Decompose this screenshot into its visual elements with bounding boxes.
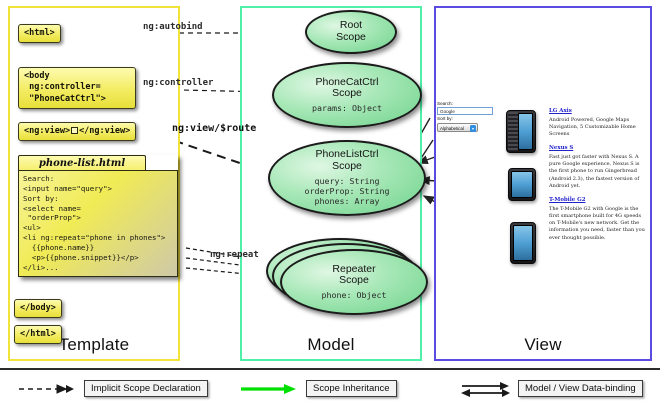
list-item: LG Axis Android Powered, Google Maps Nav… xyxy=(549,108,647,138)
legend-label: Implicit Scope Declaration xyxy=(84,380,208,397)
edge-label-autobind: ng:autobind xyxy=(143,22,203,32)
scope-phonelistctrl-props: query: String orderProp: String phones: … xyxy=(305,176,390,207)
phone-screen xyxy=(518,113,533,150)
tag-body-open: <body ng:controller= "PhoneCatCtrl"> xyxy=(18,67,136,109)
search-widget: Search: Google Sort by: Alphabetical▾ xyxy=(437,101,499,132)
tag-html-close: </html> xyxy=(14,325,62,344)
column-label-model: Model xyxy=(242,335,420,355)
tag-ngview: <ng:view></ng:view> xyxy=(18,122,136,141)
dashed-arrow-icon xyxy=(18,383,76,395)
list-item: Nexus S Fast just got faster with Nexus … xyxy=(549,145,647,190)
phone-snippet: Android Powered, Google Maps Navigation,… xyxy=(549,117,647,139)
tag-ngview-open: <ng:view> xyxy=(24,126,70,136)
scope-repeater-props: phone: Object xyxy=(322,290,387,300)
column-label-view: View xyxy=(436,335,650,355)
phone-snippet: Fast just got faster with Nexus S. A pur… xyxy=(549,154,647,190)
double-arrow-icon xyxy=(460,381,510,397)
phone-body xyxy=(508,168,536,201)
edge-label-ngrepeat: ng:repeat xyxy=(210,250,259,260)
solid-green-arrow-icon xyxy=(240,383,298,395)
phone-name-link[interactable]: Nexus S xyxy=(549,145,647,151)
legend-item-implicit-scope: Implicit Scope Declaration xyxy=(18,380,208,397)
search-input[interactable]: Google xyxy=(437,107,493,115)
scope-repeater-name: RepeaterScope xyxy=(332,264,375,288)
phone-list: LG Axis Android Powered, Google Maps Nav… xyxy=(549,108,647,249)
phone-list-note: phone-list.html Search: <input name="que… xyxy=(18,155,178,277)
list-item: T-Mobile G2 The T-Mobile G2 with Google … xyxy=(549,197,647,242)
phone-image-3 xyxy=(510,222,536,264)
phone-screen xyxy=(511,171,533,198)
tag-html-open: <html> xyxy=(18,24,61,43)
scope-root: RootScope xyxy=(305,10,397,54)
note-title: phone-list.html xyxy=(18,155,146,171)
phone-image-2 xyxy=(508,168,536,201)
phone-image-1 xyxy=(506,110,536,153)
phone-snippet: The T-Mobile G2 with Google is the first… xyxy=(549,206,647,242)
tag-ngview-close: </ng:view> xyxy=(79,126,130,136)
scope-phonelistctrl-name: PhoneListCtrlScope xyxy=(315,149,378,173)
legend-item-scope-inheritance: Scope Inheritance xyxy=(240,380,397,397)
chevron-down-icon: ▾ xyxy=(470,125,476,132)
phone-body xyxy=(510,222,536,264)
note-code: Search: <input name="query"> Sort by: <s… xyxy=(18,170,178,277)
legend: Implicit Scope Declaration Scope Inherit… xyxy=(0,368,660,405)
diagram-stage: Template <html> <body ng:controller= "Ph… xyxy=(0,0,660,405)
scope-phonecatctrl: PhoneCatCtrlScope params: Object xyxy=(272,62,422,128)
phone-name-link[interactable]: T-Mobile G2 xyxy=(549,197,647,203)
scope-root-name: RootScope xyxy=(336,20,366,44)
sort-select[interactable]: Alphabetical▾ xyxy=(437,123,478,132)
legend-label: Model / View Data-binding xyxy=(518,380,643,397)
sort-select-value: Alphabetical xyxy=(440,126,464,131)
scope-phonecatctrl-name: PhoneCatCtrlScope xyxy=(315,77,378,101)
legend-divider xyxy=(0,368,660,370)
edge-label-ngview-route: ng:view/$route xyxy=(172,123,256,134)
tag-body-close: </body> xyxy=(14,299,62,318)
legend-item-data-binding: Model / View Data-binding xyxy=(460,380,643,397)
phone-keyboard xyxy=(508,112,518,151)
scope-repeater: RepeaterScope phone: Object xyxy=(280,249,428,315)
legend-label: Scope Inheritance xyxy=(306,380,397,397)
placeholder-box-icon xyxy=(71,127,78,134)
scope-phonecatctrl-props: params: Object xyxy=(312,103,382,113)
scope-phonelistctrl: PhoneListCtrlScope query: String orderPr… xyxy=(268,140,426,216)
phone-screen xyxy=(513,225,533,261)
sort-label: Sort by: xyxy=(437,116,499,122)
phone-name-link[interactable]: LG Axis xyxy=(549,108,647,114)
edge-label-controller: ng:controller xyxy=(143,78,213,88)
